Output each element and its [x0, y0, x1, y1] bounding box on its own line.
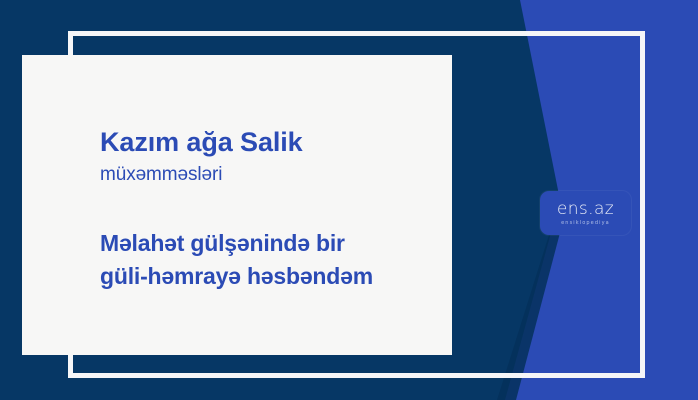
- logo-tagline: ensiklopediya: [561, 220, 610, 226]
- headline-line-2: güli-həmrayə həsbəndəm: [100, 260, 430, 293]
- content-card-inner: Kazım ağa Salik müxəmməsləri Məlahət gül…: [100, 125, 430, 293]
- page-title: Kazım ağa Salik: [100, 125, 430, 159]
- ens-az-logo-badge[interactable]: ens.az ensiklopediya: [540, 191, 631, 235]
- headline-block: Məlahət gülşənində bir güli-həmrayə həsb…: [100, 227, 430, 293]
- title-block: Kazım ağa Salik müxəmməsləri: [100, 125, 430, 189]
- logo-wordmark: ens.az: [557, 201, 614, 218]
- cover-canvas: Kazım ağa Salik müxəmməsləri Məlahət gül…: [0, 0, 698, 400]
- headline-line-1: Məlahət gülşənində bir: [100, 227, 430, 260]
- page-subtitle: müxəmməsləri: [100, 161, 430, 189]
- content-card: Kazım ağa Salik müxəmməsləri Məlahət gül…: [22, 55, 452, 355]
